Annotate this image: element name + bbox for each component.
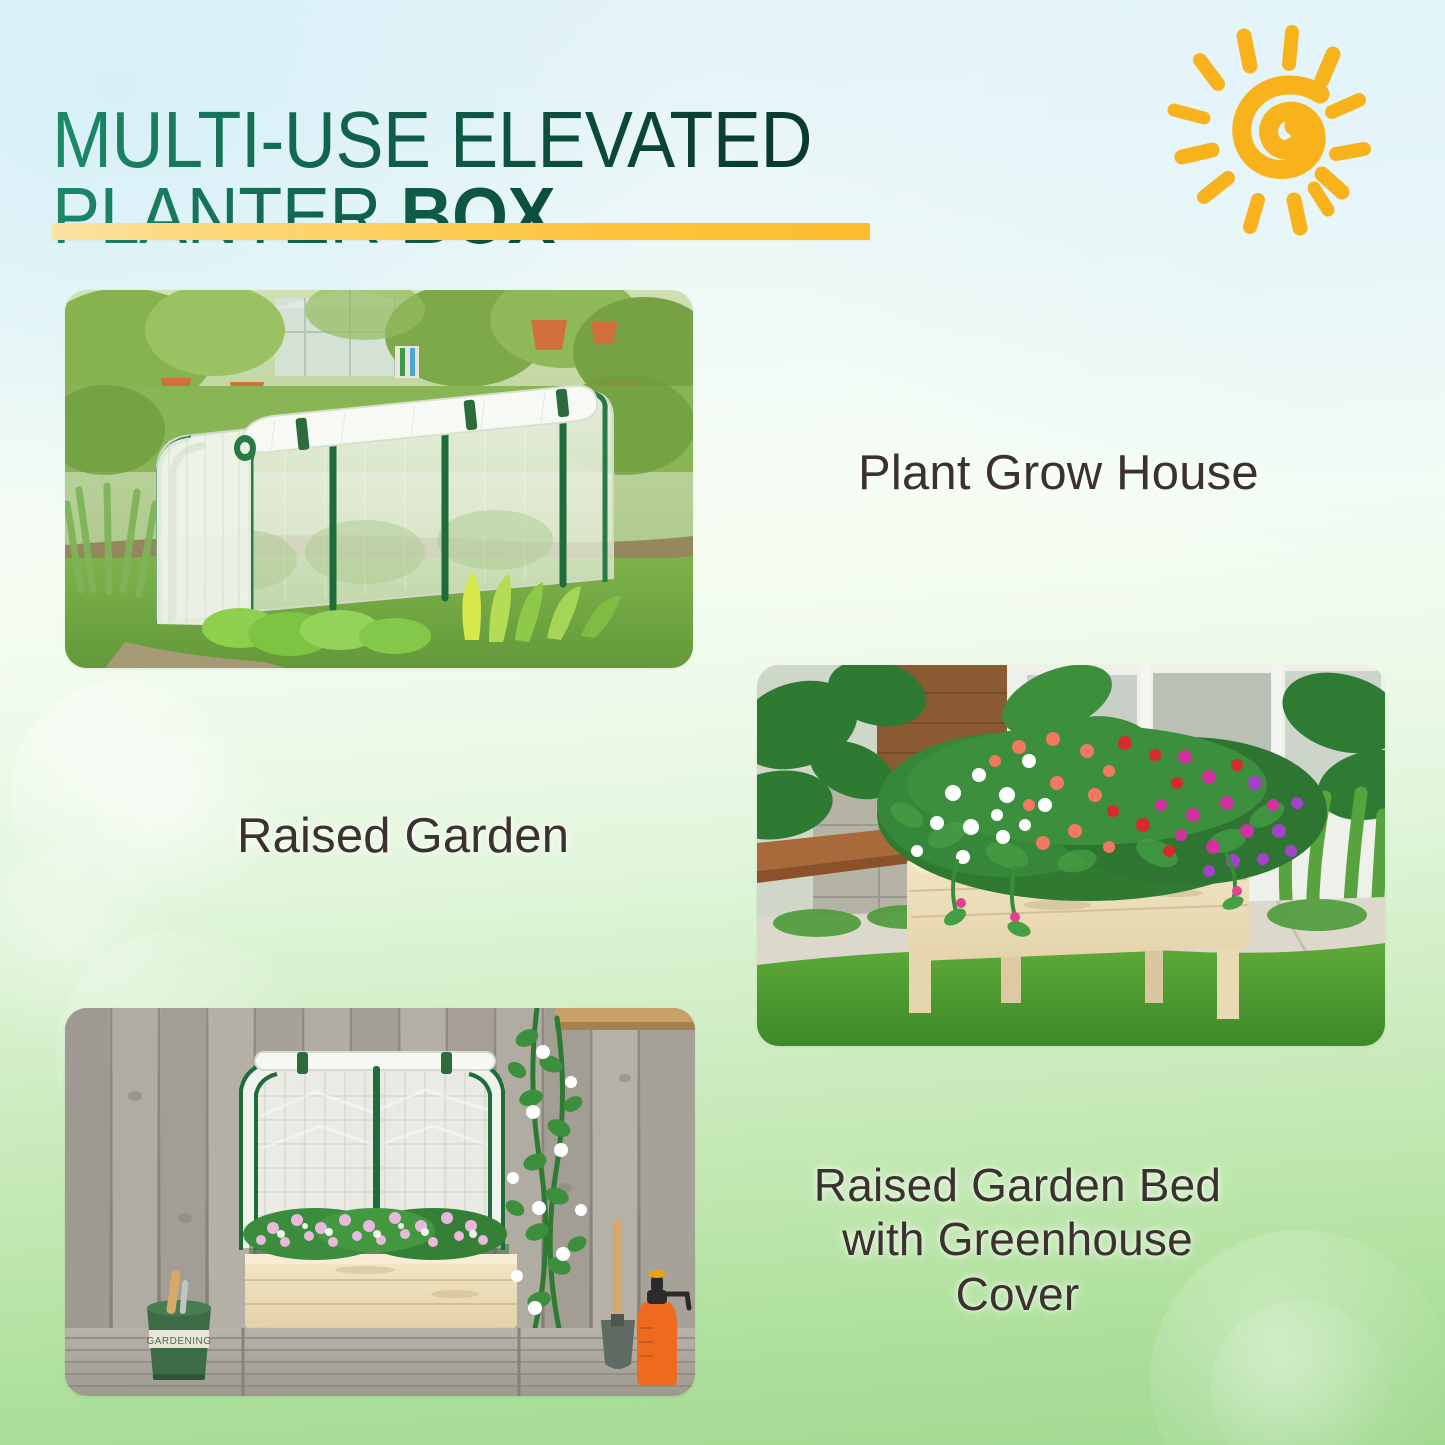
title-line-2-normal: PLANTER <box>52 171 400 260</box>
bokeh-circle <box>1210 1300 1390 1445</box>
caption-raised-garden-bed-greenhouse: Raised Garden Bed with Greenhouse Cover <box>745 1158 1290 1321</box>
title-underline-bar <box>52 223 870 240</box>
title-line-2-bold: BOX <box>400 171 555 260</box>
covered-planter-photo: GARDENING <box>65 1008 695 1396</box>
sun-spiral-icon <box>1152 22 1408 260</box>
product-infographic-poster: MULTI-USE ELEVATED PLANTER BOX <box>0 0 1445 1445</box>
caption-line-2: with Greenhouse <box>745 1212 1290 1266</box>
caption-line-1: Raised Garden Bed <box>745 1158 1290 1212</box>
elevated-planter-photo <box>757 665 1385 1046</box>
caption-plant-grow-house: Plant Grow House <box>858 445 1259 501</box>
caption-raised-garden: Raised Garden <box>237 808 569 864</box>
title-line-1: MULTI-USE ELEVATED <box>52 95 812 184</box>
tunnel-greenhouse-photo <box>65 290 693 668</box>
svg-text:GARDENING: GARDENING <box>146 1336 211 1347</box>
bokeh-circle <box>10 680 240 910</box>
caption-line-3: Cover <box>745 1267 1290 1321</box>
